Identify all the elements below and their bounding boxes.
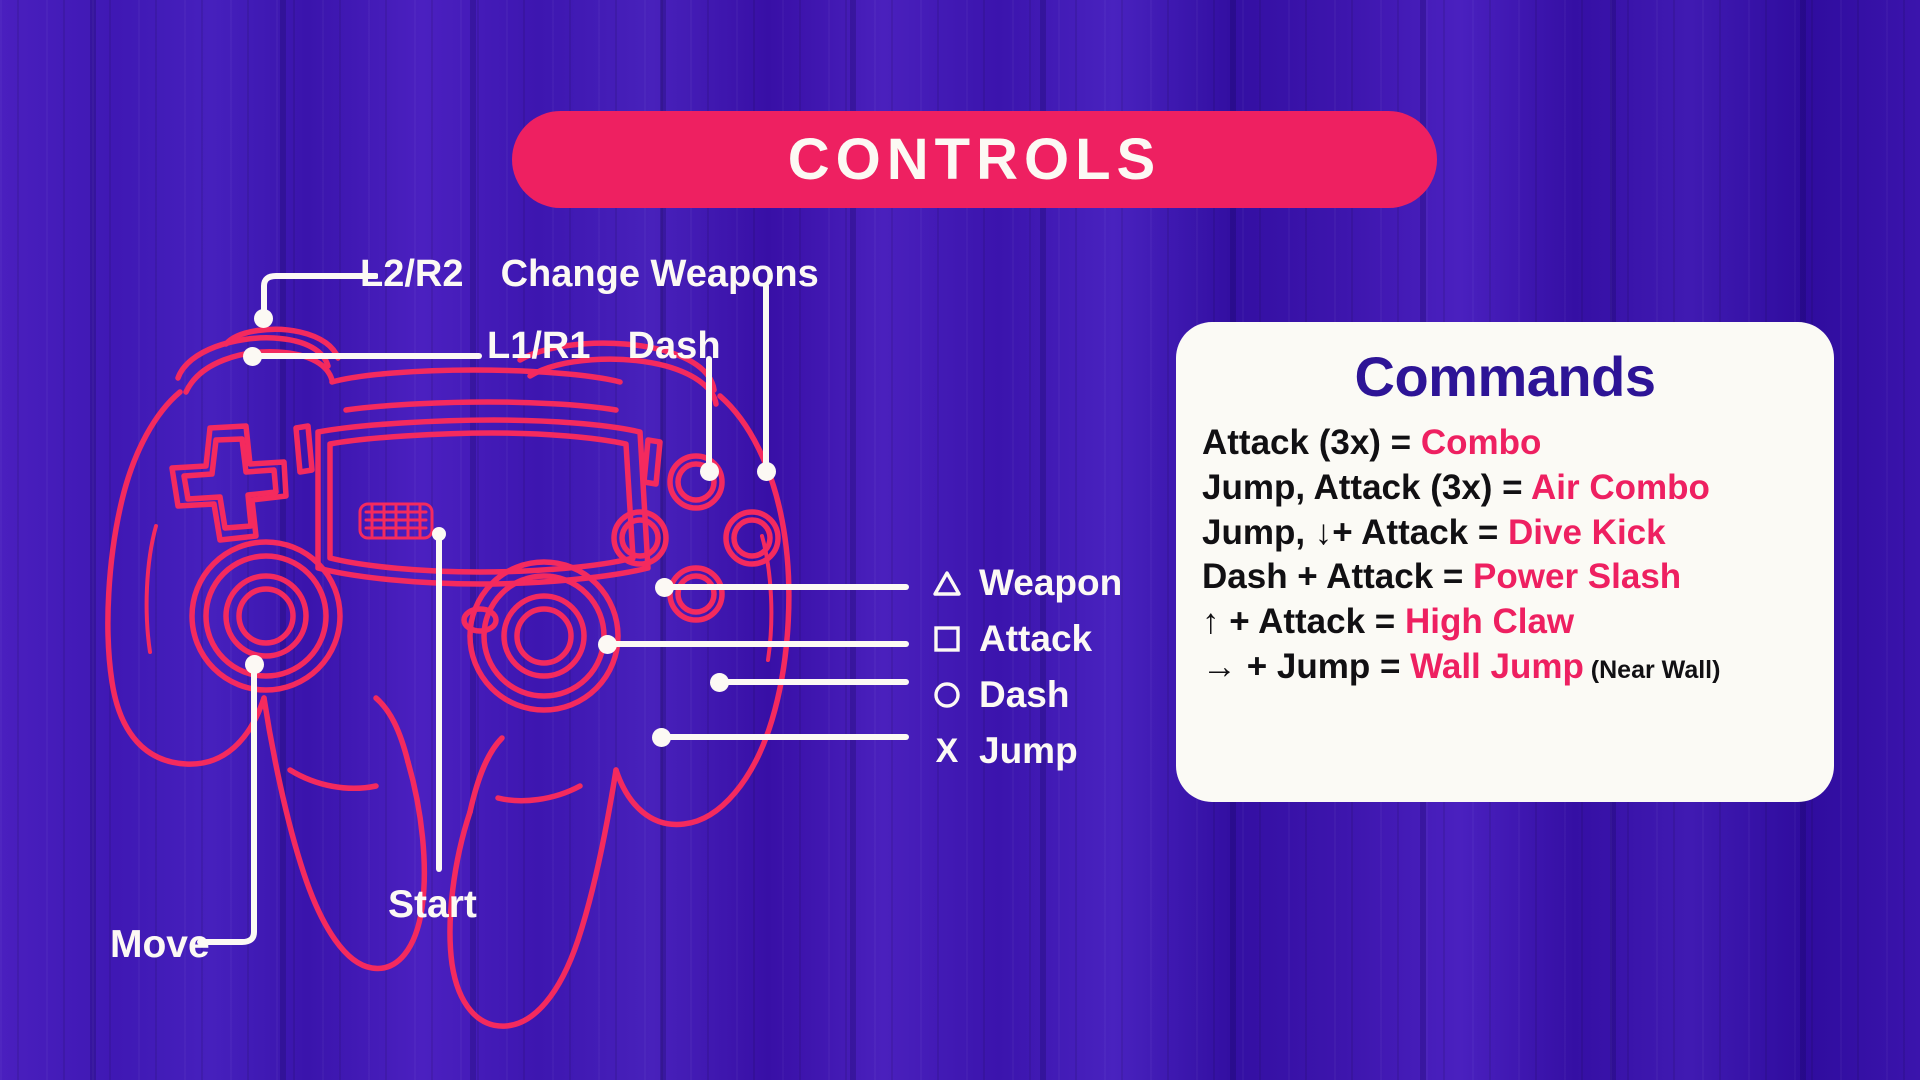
legend-leader-jump bbox=[661, 734, 909, 740]
callout-leader-shoulder-left bbox=[706, 356, 712, 468]
callout-start: Start bbox=[388, 885, 477, 924]
command-input: ↑ + Attack = bbox=[1202, 602, 1405, 641]
callout-action-l2r2: Change Weapons bbox=[501, 253, 819, 295]
callout-leader-start bbox=[436, 534, 442, 872]
command-result: Power Slash bbox=[1473, 557, 1681, 596]
circle-icon bbox=[925, 681, 969, 709]
legend-leader-weapon bbox=[664, 584, 909, 590]
legend-leader-attack bbox=[607, 641, 909, 647]
callout-leader-move bbox=[196, 660, 264, 950]
command-result: Wall Jump bbox=[1410, 647, 1584, 686]
command-row: Jump, Attack (3x) = Air Combo bbox=[1202, 466, 1834, 511]
legend-row-weapon: Weapon bbox=[925, 555, 1122, 611]
commands-card: Commands Attack (3x) = Combo Jump, Attac… bbox=[1176, 322, 1834, 802]
callout-leader-l1r1 bbox=[252, 353, 482, 359]
callout-l2r2: L2/R2 Change Weapons bbox=[360, 255, 819, 293]
controls-banner: CONTROLS bbox=[512, 111, 1437, 208]
command-result: Air Combo bbox=[1531, 468, 1710, 507]
command-note: (Near Wall) bbox=[1584, 656, 1721, 684]
commands-title: Commands bbox=[1176, 344, 1834, 409]
legend-label-dash: Dash bbox=[979, 674, 1069, 716]
legend-label-jump: Jump bbox=[979, 730, 1078, 772]
command-result: High Claw bbox=[1405, 602, 1574, 641]
command-input: Jump, ↓+ Attack = bbox=[1202, 513, 1508, 552]
cross-icon: X bbox=[925, 732, 969, 771]
command-input: → + Jump = bbox=[1202, 647, 1410, 686]
command-row: ↑ + Attack = High Claw bbox=[1202, 600, 1834, 645]
command-result: Combo bbox=[1421, 423, 1542, 462]
triangle-icon bbox=[925, 570, 969, 597]
callout-key-l1r1: L1/R1 bbox=[487, 325, 590, 367]
legend-row-dash: Dash bbox=[925, 667, 1122, 723]
callout-leader-shoulder-right bbox=[763, 283, 769, 468]
page-title: CONTROLS bbox=[788, 126, 1161, 193]
command-result: Dive Kick bbox=[1508, 513, 1666, 552]
legend-row-attack: Attack bbox=[925, 611, 1122, 667]
legend-label-weapon: Weapon bbox=[979, 562, 1122, 604]
callout-l1r1: L1/R1 Dash bbox=[487, 327, 721, 365]
command-row: Dash + Attack = Power Slash bbox=[1202, 555, 1834, 600]
commands-list: Attack (3x) = Combo Jump, Attack (3x) = … bbox=[1176, 421, 1834, 690]
legend-row-jump: X Jump bbox=[925, 723, 1122, 779]
callout-key-start: Start bbox=[388, 883, 477, 926]
callout-key-move: Move bbox=[110, 923, 210, 966]
command-input: Attack (3x) = bbox=[1202, 423, 1421, 462]
controls-screen: L2/R2 Change Weapons L1/R1 Dash Weapon bbox=[0, 0, 1920, 1080]
callout-move: Move bbox=[110, 925, 210, 964]
callout-key-l2r2: L2/R2 bbox=[360, 253, 463, 295]
command-input: Jump, Attack (3x) = bbox=[1202, 468, 1531, 507]
command-input: Dash + Attack = bbox=[1202, 557, 1473, 596]
button-legend: Weapon Attack Dash X Jump bbox=[925, 555, 1122, 779]
command-row: Jump, ↓+ Attack = Dive Kick bbox=[1202, 511, 1834, 556]
square-icon bbox=[925, 625, 969, 653]
command-row: Attack (3x) = Combo bbox=[1202, 421, 1834, 466]
legend-leader-dash bbox=[719, 679, 909, 685]
legend-label-attack: Attack bbox=[979, 618, 1092, 660]
command-row: → + Jump = Wall Jump (Near Wall) bbox=[1202, 645, 1834, 690]
